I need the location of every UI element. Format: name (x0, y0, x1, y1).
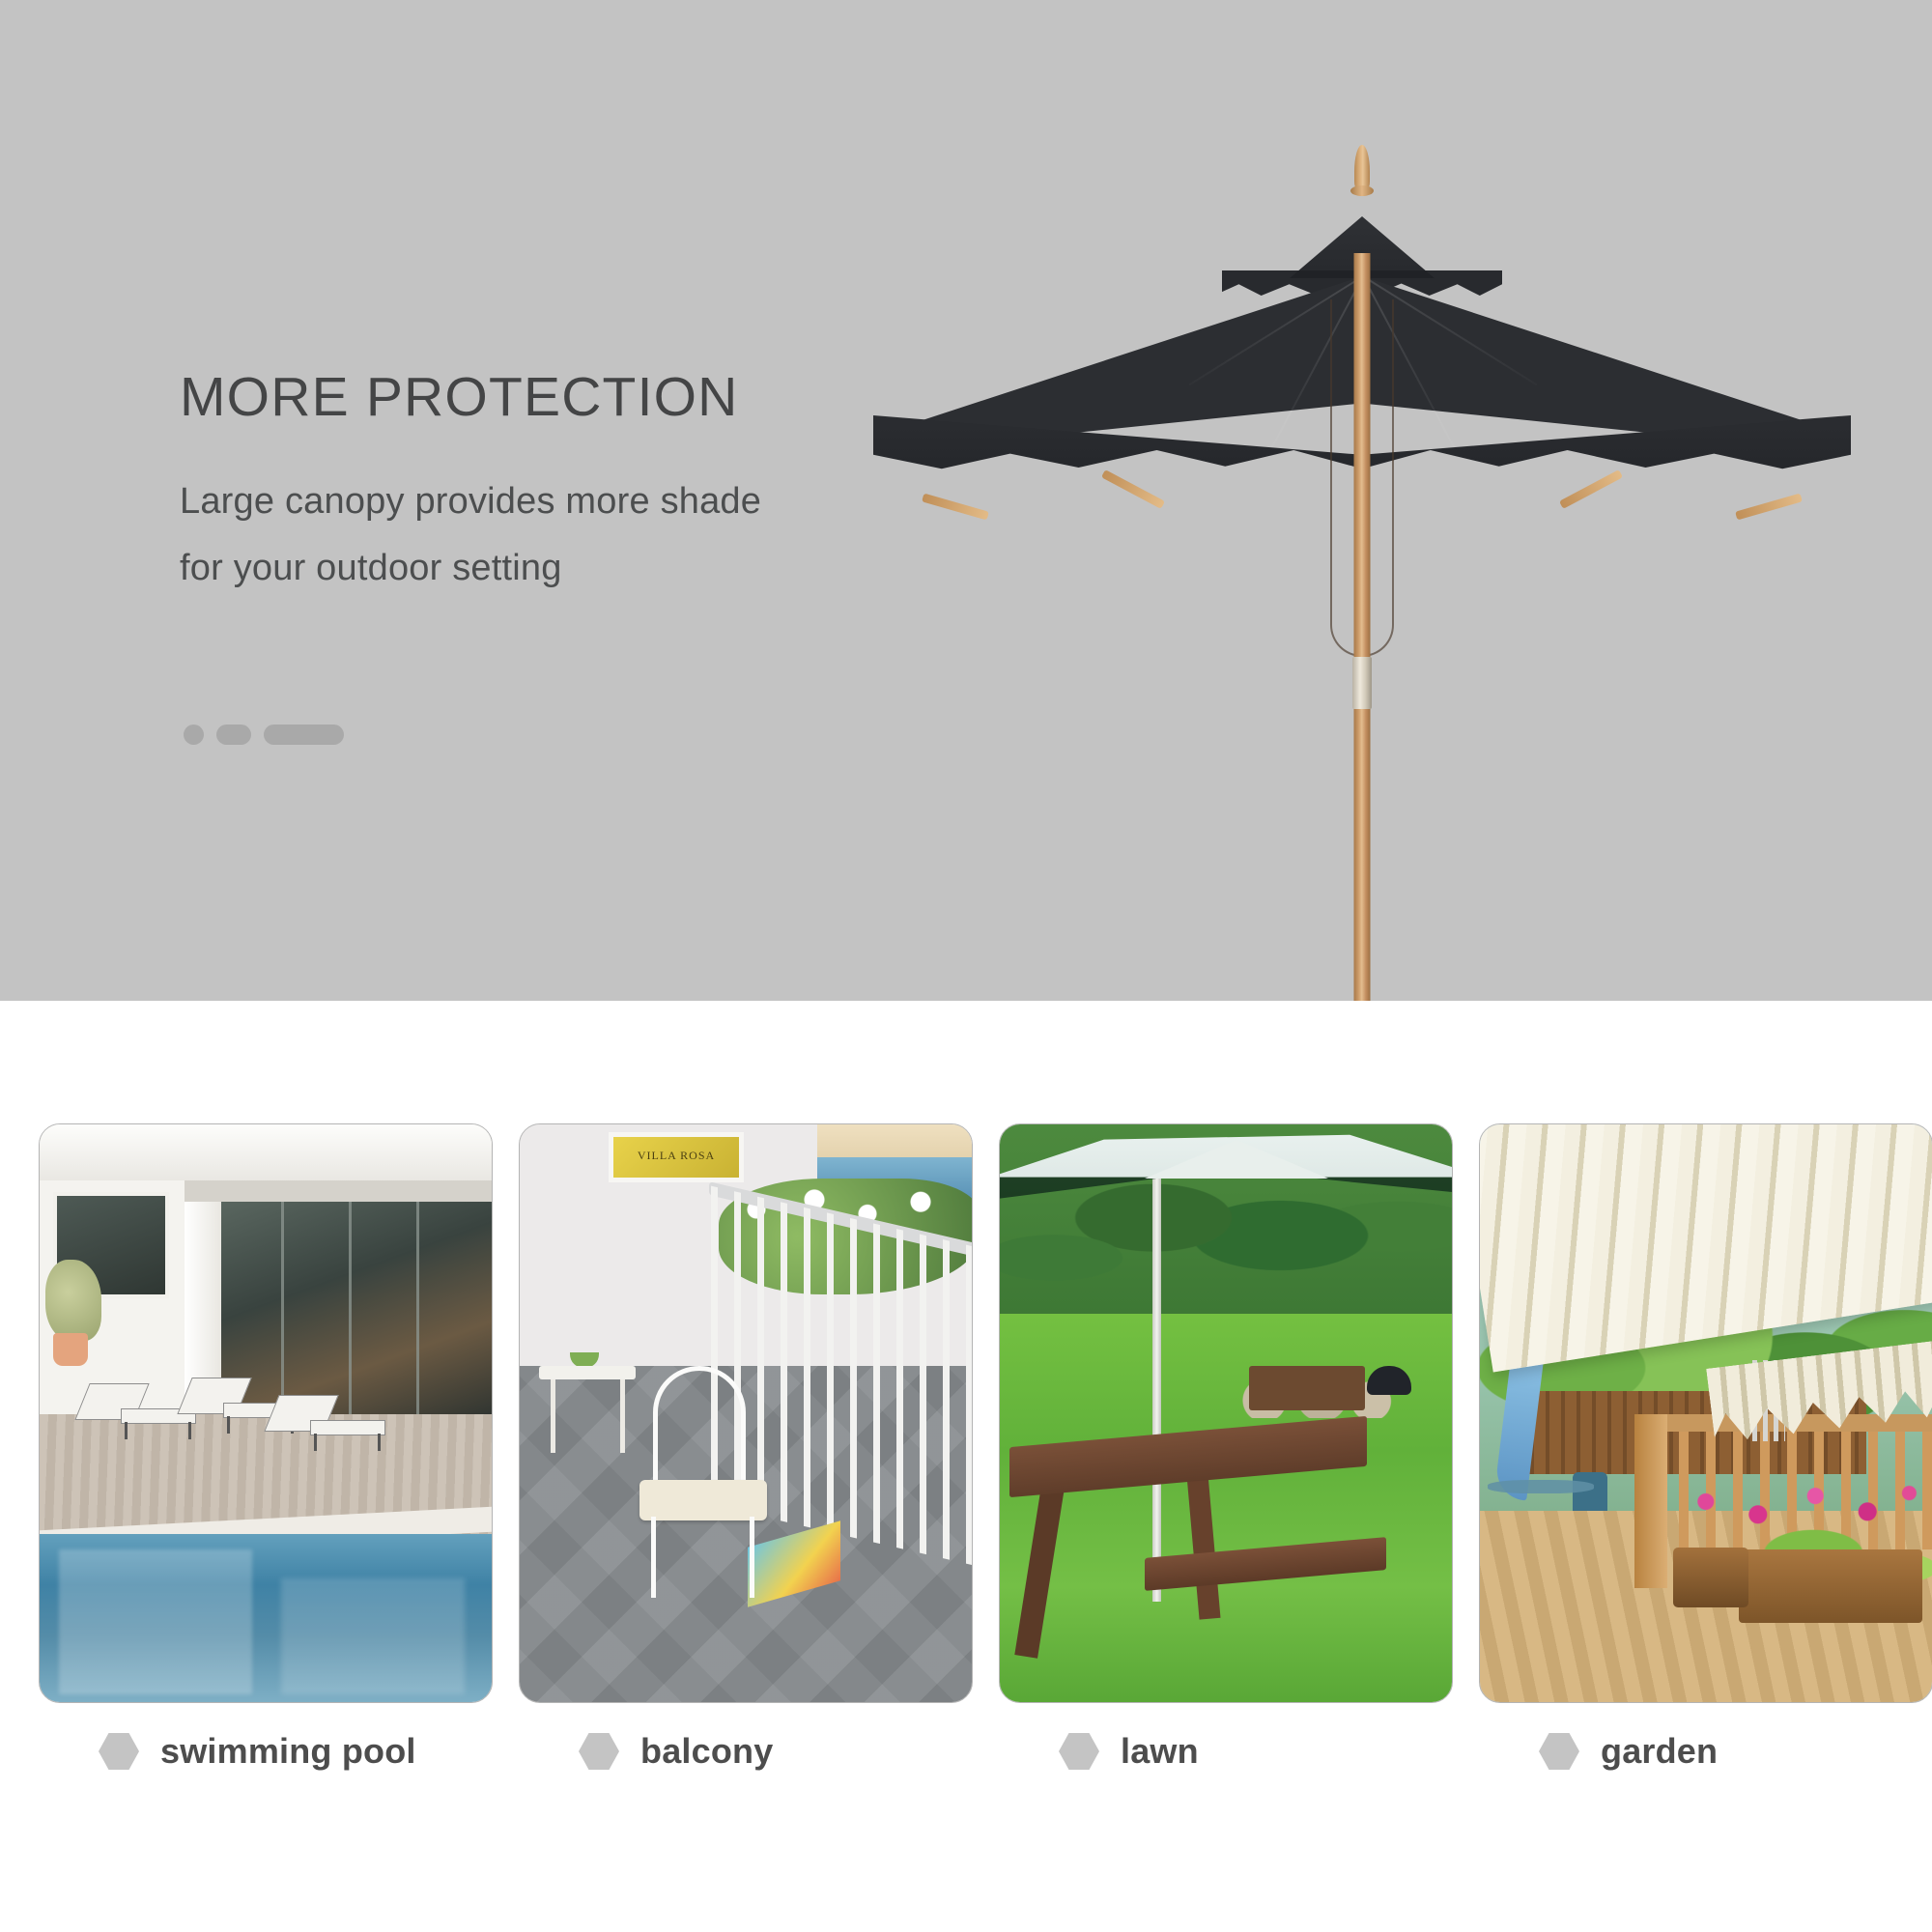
pagination-indicator[interactable] (184, 724, 344, 745)
caption-lawn: lawn (999, 1731, 1453, 1772)
pagination-dot-2[interactable] (216, 724, 251, 745)
pagination-dot-1[interactable] (184, 724, 204, 745)
pagination-dot-3[interactable] (264, 724, 344, 745)
villa-rosa-sign-text: VILLA ROSA (613, 1149, 739, 1163)
hexagon-bullet-icon (1539, 1733, 1579, 1770)
villa-rosa-sign: VILLA ROSA (609, 1132, 744, 1182)
hexagon-bullet-icon (579, 1733, 619, 1770)
caption-balcony: balcony (519, 1731, 973, 1772)
scenario-thumbnail-lawn[interactable] (999, 1123, 1453, 1703)
umbrella-joint-collar (1352, 657, 1372, 709)
caption-label: garden (1601, 1731, 1718, 1772)
caption-swimming-pool: swimming pool (39, 1731, 493, 1772)
hexagon-bullet-icon (99, 1733, 139, 1770)
caption-label: swimming pool (160, 1731, 416, 1772)
caption-garden: garden (1479, 1731, 1932, 1772)
scenario-thumbnail-row: VILLA ROSA (39, 1123, 1932, 1703)
hero-banner: MORE PROTECTION Large canopy provides mo… (0, 0, 1932, 1001)
garden-scene (1480, 1124, 1932, 1702)
lawn-scene (1000, 1124, 1452, 1702)
scenario-thumbnail-garden[interactable] (1479, 1123, 1932, 1703)
caption-label: balcony (640, 1731, 773, 1772)
usage-scenarios-section: VILLA ROSA (0, 1001, 1932, 1932)
balcony-scene: VILLA ROSA (520, 1124, 972, 1702)
umbrella-pole (1354, 253, 1371, 1001)
scenario-thumbnail-swimming-pool[interactable] (39, 1123, 493, 1703)
hexagon-bullet-icon (1059, 1733, 1099, 1770)
scenario-thumbnail-balcony[interactable]: VILLA ROSA (519, 1123, 973, 1703)
swimming-pool-scene (40, 1124, 492, 1702)
scenario-caption-row: swimming pool balcony lawn garden (39, 1731, 1932, 1772)
patio-umbrella-product-image (850, 145, 1874, 1001)
caption-label: lawn (1121, 1731, 1199, 1772)
